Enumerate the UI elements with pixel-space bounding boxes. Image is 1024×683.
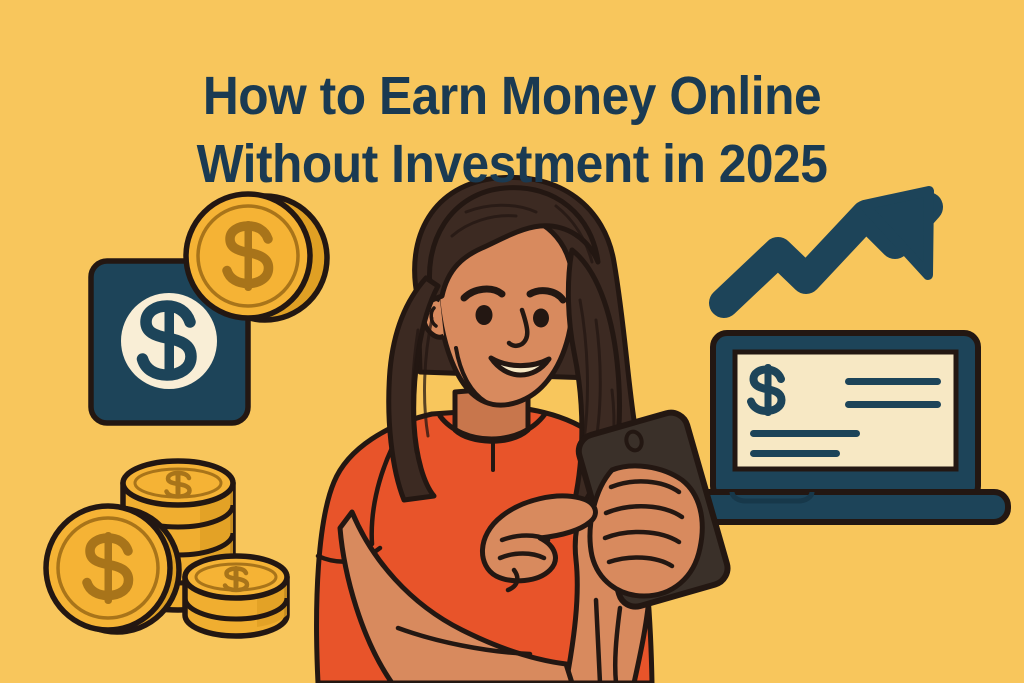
gold-coin-top — [186, 194, 327, 320]
laptop — [683, 333, 1008, 522]
coin-front-large — [46, 506, 179, 632]
eye-left — [476, 305, 493, 325]
poster-canvas: How to Earn Money Online Without Investm… — [0, 0, 1024, 683]
laptop-screen-line-3 — [750, 430, 860, 437]
laptop-screen-line-1 — [845, 378, 941, 385]
laptop-screen-line-2 — [845, 401, 941, 408]
illustration — [0, 0, 1024, 683]
laptop-screen-line-4 — [750, 450, 840, 457]
coin-stack-short — [185, 556, 287, 636]
hand-right — [590, 466, 702, 596]
eye-right — [533, 309, 549, 328]
